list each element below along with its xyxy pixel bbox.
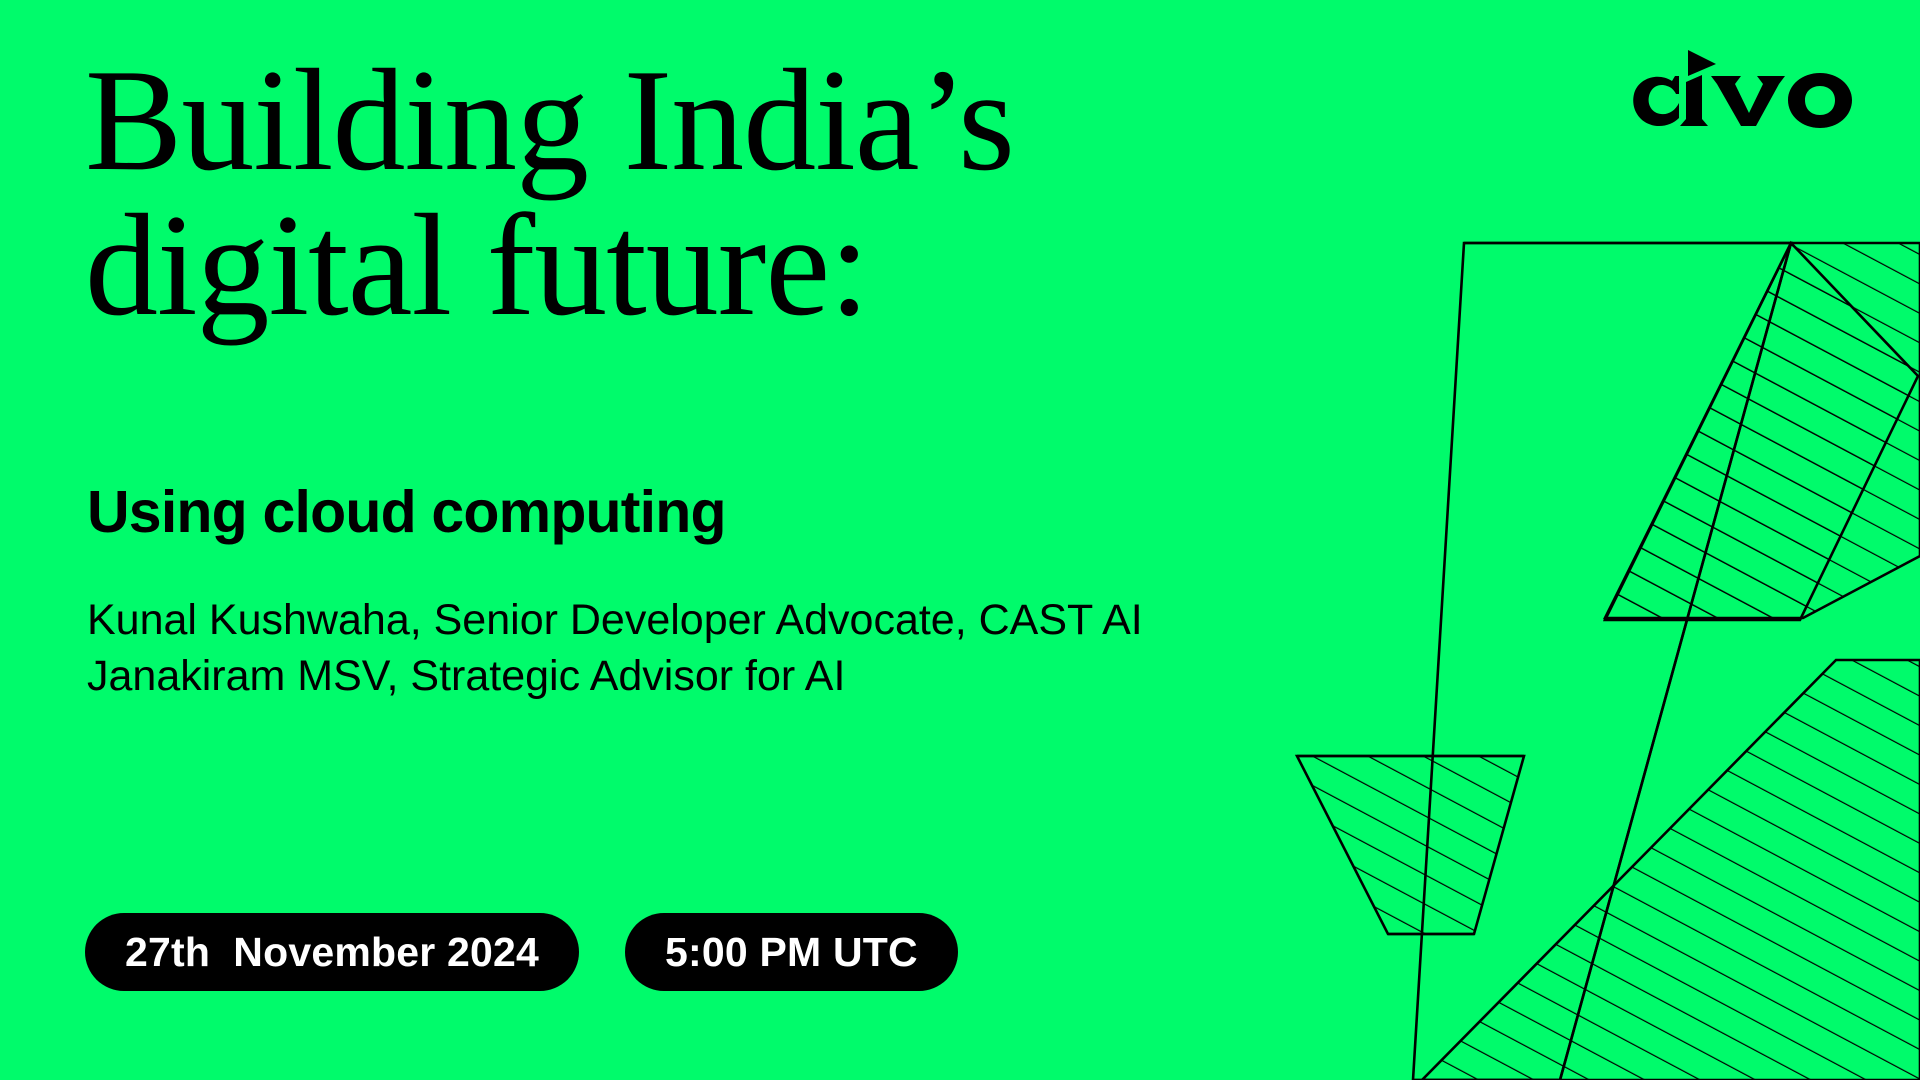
date-pill[interactable]: 27th November 2024 <box>85 913 579 991</box>
civo-letter-o <box>1788 73 1852 128</box>
artwork-shape-hatched-diamond <box>1605 243 1918 620</box>
civo-letter-i <box>1680 75 1708 126</box>
triangular-flag-icon <box>1688 50 1716 76</box>
artwork-shape-hatched-lower-right <box>1422 660 1920 1080</box>
artwork-shape-hatched-notch <box>1297 756 1524 934</box>
civo-logo[interactable] <box>1628 48 1868 140</box>
artwork-shape-open-large <box>1413 243 1791 1080</box>
subtitle: Using cloud computing <box>87 478 726 546</box>
civo-letter-v <box>1711 76 1785 126</box>
artwork-outline-overlay <box>1413 243 1791 1080</box>
event-details-group: 27th November 2024 5:00 PM UTC <box>85 913 958 991</box>
speaker-list: Kunal Kushwaha, Senior Developer Advocat… <box>87 593 1143 705</box>
speaker-line-1: Kunal Kushwaha, Senior Developer Advocat… <box>87 593 1143 649</box>
artwork-shape-hatched-upper-right <box>1605 243 1920 618</box>
time-pill[interactable]: 5:00 PM UTC <box>625 913 958 991</box>
speaker-line-2: Janakiram MSV, Strategic Advisor for AI <box>87 649 1143 705</box>
page-title: Building India’s digital future: <box>85 48 1235 337</box>
civo-letter-c <box>1633 76 1679 126</box>
